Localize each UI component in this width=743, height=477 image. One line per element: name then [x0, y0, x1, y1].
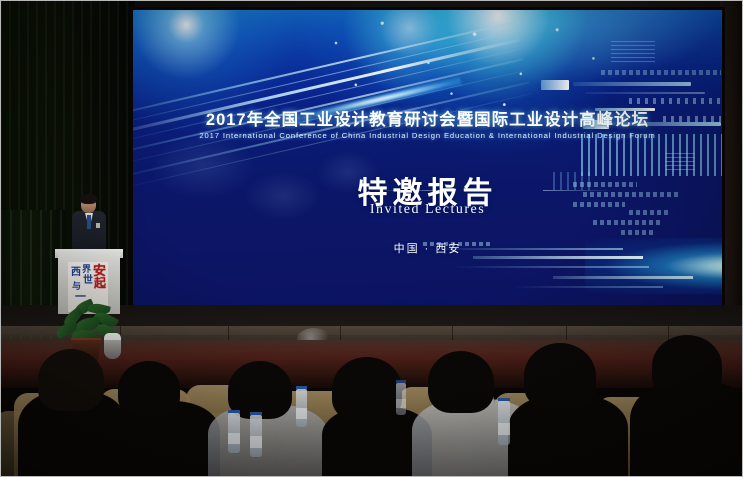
person-right-1-head — [428, 351, 494, 413]
person-left-1-head — [38, 349, 104, 411]
person-right-2-head — [524, 343, 596, 409]
water-bottle-2 — [250, 415, 262, 457]
water-bottle-5 — [396, 383, 406, 415]
flare-streak — [453, 266, 649, 268]
hall-right-wall — [720, 0, 743, 330]
tech-pattern-graphic — [433, 22, 722, 272]
person-left-2-head — [118, 361, 180, 417]
water-bottle-1 — [228, 413, 240, 453]
water-bottle-3 — [296, 389, 307, 427]
speaker-person — [72, 196, 106, 254]
slide-main-title-english: Invited Lectures — [133, 202, 722, 218]
led-presentation-screen: 2017年全国工业设计教育研讨会暨国际工业设计高峰论坛 2017 Interna… — [133, 10, 722, 306]
flare-streak — [473, 256, 643, 259]
speaker-hair — [80, 194, 97, 204]
speaker-badge — [96, 223, 100, 228]
slide-conference-subtitle: 2017 International Conference of China I… — [133, 131, 722, 140]
speaker-tie — [87, 215, 91, 229]
podium-banner-char-yu: 与 — [72, 282, 81, 291]
podium-banner-char-shi: 世 — [83, 276, 93, 286]
slide-conference-title: 2017年全国工业设计教育研讨会暨国际工业设计高峰论坛 — [133, 106, 722, 130]
flare-streak — [513, 286, 663, 288]
podium-banner-char-xi: 西 — [71, 268, 81, 278]
person-right-3-head — [652, 335, 722, 397]
flare-streak — [553, 276, 693, 279]
audience-area — [0, 340, 743, 477]
podium-banner-char-jie: 界 — [82, 265, 91, 274]
slide-location: 中国 · 西安 — [133, 240, 722, 256]
podium-banner-char-qi: 起 — [94, 277, 106, 289]
person-center-2-head — [332, 357, 402, 421]
conference-photo: 2017年全国工业设计教育研讨会暨国际工业设计高峰论坛 2017 Interna… — [0, 0, 743, 477]
water-bottle-4 — [498, 401, 510, 445]
